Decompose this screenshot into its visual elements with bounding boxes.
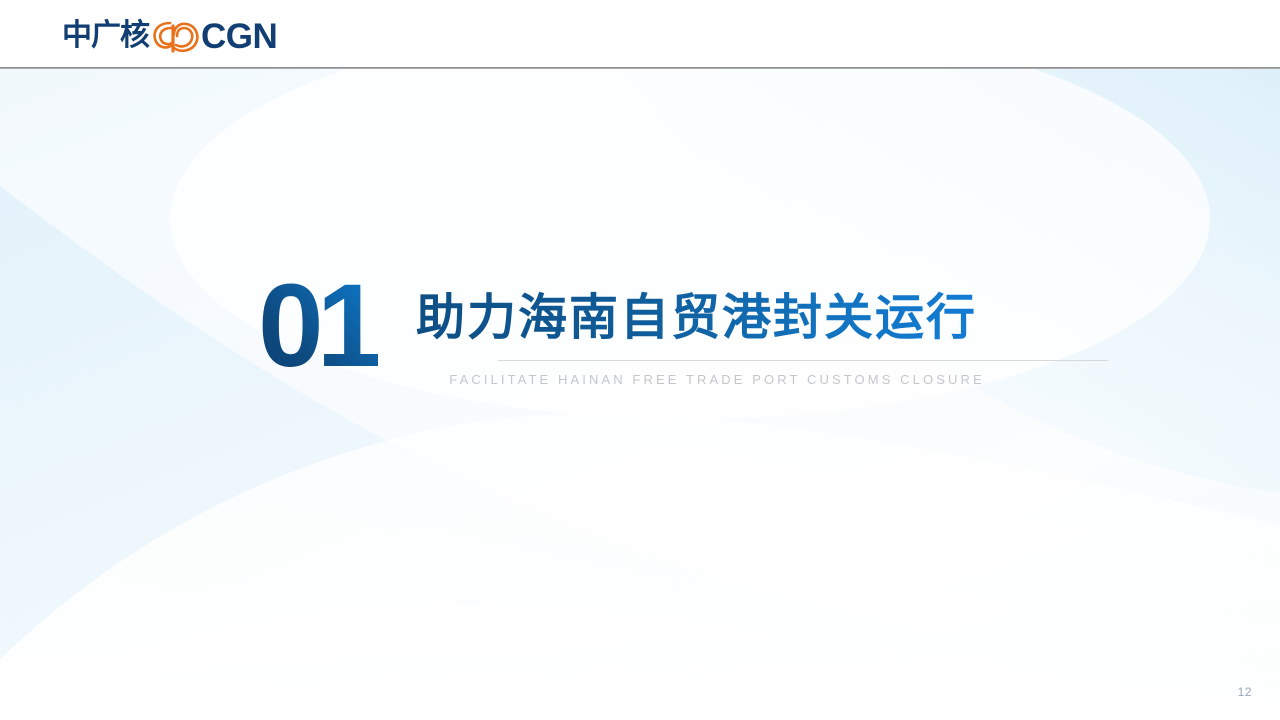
section-title-english: FACILITATE HAINAN FREE TRADE PORT CUSTOM… bbox=[380, 372, 1018, 387]
title-divider-line bbox=[498, 360, 1108, 361]
section-number-text: 01 bbox=[258, 266, 378, 382]
slide-section-divider: 中广核 CGN bbox=[0, 0, 1280, 720]
slide-header: 中广核 CGN bbox=[0, 0, 1280, 69]
header-divider-rule bbox=[0, 67, 1280, 69]
page-number: 12 bbox=[1238, 685, 1252, 699]
cgn-swirl-mark-icon bbox=[150, 17, 202, 55]
section-title-chinese: 助力海南自贸港封关运行 bbox=[380, 266, 1018, 342]
section-title-block: 01 助力海南自贸港封关运行 FACILITATE HAINAN FREE TR… bbox=[258, 266, 1018, 416]
section-title-right: 助力海南自贸港封关运行 FACILITATE HAINAN FREE TRADE… bbox=[380, 266, 1018, 387]
logo-english-name: CGN bbox=[201, 19, 277, 54]
cgn-logo: 中广核 CGN bbox=[62, 16, 277, 56]
logo-chinese-name: 中广核 bbox=[62, 21, 149, 51]
section-number-badge: 01 bbox=[258, 266, 378, 382]
